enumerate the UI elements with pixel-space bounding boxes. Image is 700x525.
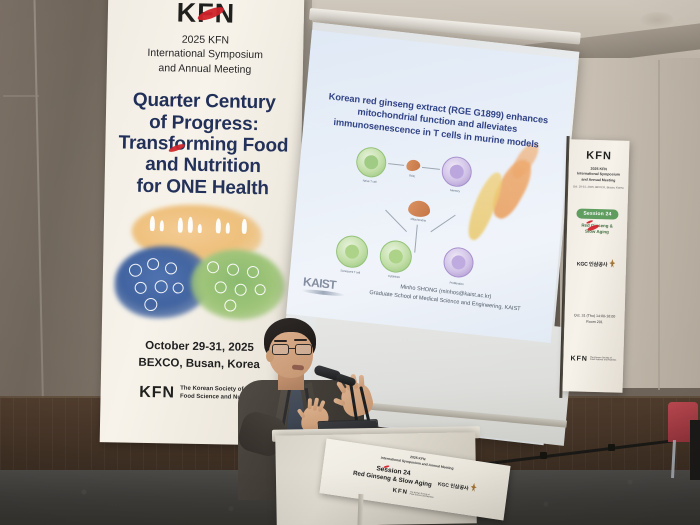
sign-sponsor-logo: KGC 인삼공사 [437,477,477,494]
conference-photo-scene: KFN 2025 KFN International Symposium and… [0,0,700,525]
banner-title-line-3: Transforming Food [115,132,291,157]
speaker-mouth [292,364,304,370]
diagram-label: Senescent T cell [330,267,370,275]
science-icon [155,280,168,293]
glasses-lens-left [272,344,289,355]
kfn-logo-footer: KFN [139,384,175,403]
rollup-org-name: The Korean Society of Food Science and N… [590,356,617,362]
kgc-logo-text: KGC 인삼공사 [577,262,608,269]
person-figure-icon [188,217,193,233]
nature-icon [215,281,227,293]
science-icon [144,298,157,311]
sign-kgc-text: KGC 인삼공사 [437,482,468,493]
diagram-label: Proliferation [437,279,477,287]
session-topic-line-2: Slow Aging [567,229,627,237]
session-badge: Session 24 [576,209,618,220]
science-icon [129,263,142,276]
nature-icon [235,283,247,295]
banner-event-2: and Annual Meeting [117,60,293,78]
glasses-lens-right [295,344,312,355]
cable-clip [608,444,615,451]
glasses-bridge [289,348,295,349]
diagram-arrow [422,167,440,170]
kfn-logo-sign: KFN [392,488,408,496]
banner-event-lines: 2025 KFN International Symposium and Ann… [117,31,294,78]
sign-kfn-text: KFN [392,488,408,496]
diagram-label: Naive T cell [349,177,389,185]
nature-icon [224,299,236,311]
banner-artwork [114,203,288,328]
kgc-ginseng-icon [609,259,615,268]
person-figure-icon [242,219,247,234]
diagram-branch [414,225,418,253]
nature-icon [247,266,259,278]
nature-icon [227,263,239,275]
speaker-eyebrow [274,340,287,342]
person-figure-icon [160,220,164,231]
nature-icon [207,261,219,273]
diagram-label: Cytokines [374,272,414,280]
science-icon [147,258,159,270]
kfn-rollup-text: KFN [586,150,612,163]
rollup-session-time: Oct. 31 (Thu) 14:00-16:00 Room 201 [564,314,624,327]
kfn-footer-text: KFN [139,384,175,403]
dark-object [690,420,700,480]
wall-seam [658,60,660,390]
person-figure-icon [178,217,183,232]
kgc-ginseng-icon [470,482,477,492]
speaker-eyebrow [294,339,307,341]
kgc-sponsor-logo: KGC 인삼공사 [566,257,626,270]
rollup-org-line-2: Food Science and Nutrition [590,359,616,363]
kfn-logo-banner: KFN [176,0,235,30]
diagram-arrow [388,163,404,166]
banner-title: Quarter Century of Progress: Transformin… [114,90,292,200]
rollup-footer: KFN The Korean Society of Food Science a… [563,355,623,364]
diagram-mitochondria-icon [405,159,421,173]
wall-seam-left-2 [3,95,39,97]
diagram-label: Memory [435,186,475,194]
rollup-venue: Oct. 29-31, 2025, BEXCO, Busan, Korea [568,184,628,190]
diagram-label: RGE [392,172,432,180]
person-figure-icon [150,216,155,231]
person-figure-icon [226,222,230,233]
science-icon [165,262,177,274]
person-figure-icon [216,218,221,233]
science-icon [135,282,147,294]
ceiling-vent-icon [640,12,674,28]
speaker-glasses-icon [272,344,314,355]
nature-icon [255,284,266,295]
science-icon [173,282,184,293]
diagram-label: Mitochondria [398,216,438,224]
diagram-branch [385,210,407,232]
kfn-logo-rollup-footer: KFN [570,355,588,362]
rollup-event-lines: 2025 KFN International Symposium and Ann… [568,166,628,184]
kfn-rollup-footer-text: KFN [570,355,588,362]
banner-title-line-1: Quarter Century [116,90,292,115]
kfn-logo-rollup: KFN [586,150,612,163]
rollup-time-line-2: Room 201 [564,319,624,326]
presentation-slide: Korean red ginseng extract (RGE G1899) e… [286,30,576,343]
cable-clip [540,452,547,459]
sign-org-name: The Korean Society of Food Science and N… [409,491,434,500]
finger [308,398,312,409]
rollup-banner: KFN 2025 KFN International Symposium and… [562,139,629,393]
person-figure-icon [198,224,202,233]
banner-title-line-5: for ONE Health [114,175,290,200]
diagram-mitochondria-center-icon [408,200,431,218]
